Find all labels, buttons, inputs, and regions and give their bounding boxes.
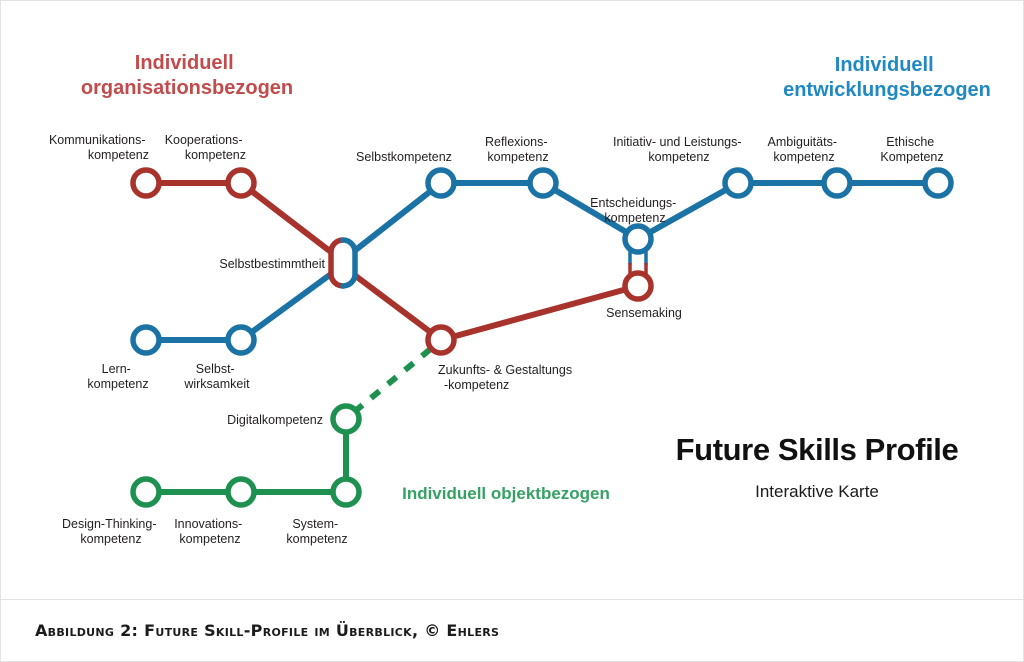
label-selbstbestimmtheit: Selbstbestimmtheit <box>219 257 325 271</box>
green-seg-4[interactable] <box>354 347 433 412</box>
station-zukunfts-und-gestaltungskompetenz[interactable] <box>428 327 454 353</box>
station-kooperationskompetenz[interactable] <box>228 170 254 196</box>
label-zukunfts-und-gestaltungskompetenz: Zukunfts- & Gestaltungs -kompetenz <box>438 363 576 392</box>
label-initiativ-und-leistungskompetenz: Initiativ- und Leistungs- kompetenz <box>613 135 745 164</box>
label-selbstwirksamkeit: Selbst- wirksamkeit <box>183 362 250 391</box>
label-innovationskompetenz: Innovations- kompetenz <box>174 517 246 546</box>
blue-seg-3[interactable] <box>353 183 441 252</box>
station-reflexionskompetenz[interactable] <box>530 170 556 196</box>
station-selbstwirksamkeit[interactable] <box>228 327 254 353</box>
heading-blue: Individuell entwicklungsbezogen <box>783 54 991 101</box>
station-digitalkompetenz[interactable] <box>333 406 359 432</box>
station-lernkompetenz[interactable] <box>133 327 159 353</box>
label-digitalkompetenz: Digitalkompetenz <box>227 413 323 427</box>
label-ethische-kompetenz: Ethische Kompetenz <box>880 135 943 164</box>
red-seg-2[interactable] <box>241 183 331 252</box>
label-design-thinking-kompetenz: Design-Thinking- kompetenz <box>62 517 160 546</box>
station-ambiguitaetskompetenz[interactable] <box>824 170 850 196</box>
label-selbstkompetenz: Selbstkompetenz <box>356 150 452 164</box>
figure-caption: Abbildung 2: Future Skill-Profile im Übe… <box>35 621 499 640</box>
label-reflexionskompetenz: Reflexions- kompetenz <box>485 135 551 164</box>
station-systemkompetenz[interactable] <box>333 479 359 505</box>
label-kooperationskompetenz: Kooperations- kompetenz <box>165 133 246 162</box>
caption-bar: Abbildung 2: Future Skill-Profile im Übe… <box>0 600 1024 662</box>
heading-green: Individuell objektbezogen <box>402 484 610 503</box>
station-innovationskompetenz[interactable] <box>228 479 254 505</box>
station-design-thinking-kompetenz[interactable] <box>133 479 159 505</box>
station-sensemaking[interactable] <box>625 273 651 299</box>
station-entscheidungskompetenz[interactable] <box>625 226 651 252</box>
station-initiativ-und-leistungskompetenz[interactable] <box>725 170 751 196</box>
heading-red: Individuell organisationsbezogen <box>81 52 293 99</box>
station-kommunikationskompetenz[interactable] <box>133 170 159 196</box>
figure-canvas: Kommunikations- kompetenz Kooperations- … <box>0 0 1024 600</box>
label-sensemaking: Sensemaking <box>606 306 682 320</box>
station-selbstbestimmtheit[interactable] <box>331 240 355 286</box>
station-ethische-kompetenz[interactable] <box>925 170 951 196</box>
label-systemkompetenz: System- kompetenz <box>286 517 347 546</box>
red-seg-3[interactable] <box>353 274 441 340</box>
label-lernkompetenz: Lern- kompetenz <box>87 362 148 391</box>
page-subtitle: Interaktive Karte <box>755 482 879 501</box>
future-skills-metro-map[interactable]: Kommunikations- kompetenz Kooperations- … <box>1 1 1024 601</box>
label-ambiguitaetskompetenz: Ambiguitäts- kompetenz <box>768 135 841 164</box>
page-title: Future Skills Profile <box>676 432 959 467</box>
label-kommunikationskompetenz: Kommunikations- kompetenz <box>49 133 149 162</box>
blue-seg-2[interactable] <box>241 274 331 340</box>
station-selbstkompetenz[interactable] <box>428 170 454 196</box>
